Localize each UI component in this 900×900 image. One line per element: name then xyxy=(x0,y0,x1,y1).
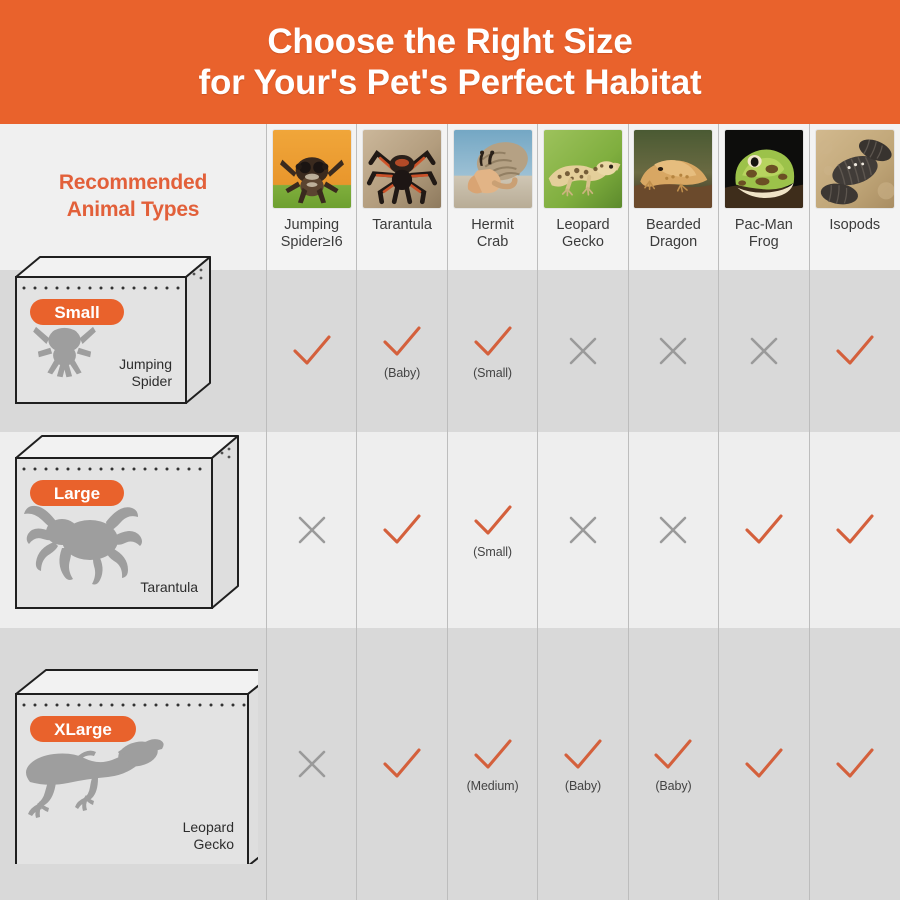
mark-wrapper xyxy=(538,511,627,549)
product-box-xlarge: XLarge Leopard Gecko xyxy=(0,628,266,900)
isopods-photo xyxy=(816,130,894,208)
cell-xlarge-hermit-crab: (Medium) xyxy=(448,628,538,900)
column-header-label-isopods: Isopods xyxy=(827,217,882,234)
check-icon xyxy=(379,510,425,550)
mark-wrapper xyxy=(719,744,808,784)
svg-text:Tarantula: Tarantula xyxy=(140,579,198,595)
mark-wrapper xyxy=(719,510,808,550)
column-header-pac-man-frog: Pac-ManFrog xyxy=(719,124,809,270)
column-label-line-1: Hermit xyxy=(471,217,514,233)
cell-note: (Baby) xyxy=(655,779,691,793)
jumping-spider-photo xyxy=(273,130,351,208)
corner-header-line-1: Recommended xyxy=(59,170,207,197)
mark-wrapper xyxy=(267,745,356,783)
product-box-small: Small Jumping Spider xyxy=(0,270,266,432)
corner-header-line-2: Animal Types xyxy=(67,197,200,224)
mark-wrapper: (Baby) xyxy=(357,322,446,380)
column-label-line-1: Isopods xyxy=(829,217,880,233)
hermit-crab-photo xyxy=(454,130,532,208)
column-label-line-1: Bearded xyxy=(646,217,701,233)
cell-small-hermit-crab: (Small) xyxy=(448,270,538,432)
title-banner: Choose the Right Size for Your's Pet's P… xyxy=(0,0,900,124)
cell-small-leopard-gecko xyxy=(538,270,628,432)
svg-text:Spider: Spider xyxy=(132,373,173,389)
column-header-label-jumping-spider: JumpingSpider≥I6 xyxy=(279,217,345,251)
svg-text:Gecko: Gecko xyxy=(194,836,235,852)
cell-xlarge-leopard-gecko: (Baby) xyxy=(538,628,628,900)
cell-large-hermit-crab: (Small) xyxy=(448,432,538,628)
column-header-jumping-spider: JumpingSpider≥I6 xyxy=(267,124,357,270)
size-box-cell-large: Large Tarantula xyxy=(0,432,267,628)
cell-xlarge-pac-man-frog xyxy=(719,628,809,900)
column-header-label-hermit-crab: HermitCrab xyxy=(469,217,516,251)
banner-title-line-2: for Your's Pet's Perfect Habitat xyxy=(199,63,702,102)
mark-wrapper: (Baby) xyxy=(538,735,627,793)
cell-small-bearded-dragon xyxy=(629,270,719,432)
mark-wrapper: (Baby) xyxy=(629,735,718,793)
cell-large-isopods xyxy=(810,432,900,628)
product-box-large: Large Tarantula xyxy=(0,432,266,628)
size-box-cell-small: Small Jumping Spider xyxy=(0,270,267,432)
mark-wrapper xyxy=(810,510,900,550)
column-header-label-pac-man-frog: Pac-ManFrog xyxy=(733,217,795,251)
cell-small-tarantula: (Baby) xyxy=(357,270,447,432)
check-icon xyxy=(470,735,516,775)
check-icon xyxy=(560,735,606,775)
column-header-leopard-gecko: LeopardGecko xyxy=(538,124,628,270)
mark-wrapper xyxy=(357,510,446,550)
column-label-line-1: Jumping xyxy=(284,217,339,233)
mark-wrapper: (Medium) xyxy=(448,735,537,793)
check-icon xyxy=(289,331,335,371)
check-icon xyxy=(832,510,878,550)
svg-text:XLarge: XLarge xyxy=(54,720,112,739)
column-header-tarantula: Tarantula xyxy=(357,124,447,270)
column-label-line-1: Pac-Man xyxy=(735,217,793,233)
mark-wrapper xyxy=(810,744,900,784)
column-label-line-2: Frog xyxy=(749,234,779,250)
column-label-line-2: Spider≥I6 xyxy=(281,234,343,250)
banner-title-line-1: Choose the Right Size xyxy=(267,22,632,61)
mark-wrapper: (Small) xyxy=(448,501,537,559)
check-icon xyxy=(379,322,425,362)
cell-note: (Small) xyxy=(473,366,512,380)
cell-note: (Baby) xyxy=(384,366,420,380)
column-header-hermit-crab: HermitCrab xyxy=(448,124,538,270)
mark-wrapper xyxy=(538,332,627,370)
cell-note: (Small) xyxy=(473,545,512,559)
column-header-bearded-dragon: BeardedDragon xyxy=(629,124,719,270)
cell-note: (Medium) xyxy=(467,779,519,793)
leopard-gecko-photo xyxy=(544,130,622,208)
svg-text:Jumping: Jumping xyxy=(119,356,172,372)
column-label-line-2: Crab xyxy=(477,234,508,250)
cross-icon xyxy=(654,332,692,370)
mark-wrapper xyxy=(810,331,900,371)
pac-man-frog-photo xyxy=(725,130,803,208)
svg-text:Small: Small xyxy=(54,303,99,322)
cross-icon xyxy=(293,745,331,783)
cross-icon xyxy=(745,332,783,370)
cell-xlarge-bearded-dragon: (Baby) xyxy=(629,628,719,900)
cell-large-bearded-dragon xyxy=(629,432,719,628)
check-icon xyxy=(741,744,787,784)
mark-wrapper xyxy=(629,511,718,549)
column-header-label-bearded-dragon: BeardedDragon xyxy=(644,217,703,251)
mark-wrapper xyxy=(357,744,446,784)
svg-text:Large: Large xyxy=(54,484,100,503)
cell-small-jumping-spider xyxy=(267,270,357,432)
cell-note: (Baby) xyxy=(565,779,601,793)
check-icon xyxy=(832,331,878,371)
cell-large-tarantula xyxy=(357,432,447,628)
mark-wrapper xyxy=(629,332,718,370)
check-icon xyxy=(832,744,878,784)
check-icon xyxy=(470,501,516,541)
cross-icon xyxy=(654,511,692,549)
size-box-cell-xlarge: XLarge Leopard Gecko xyxy=(0,628,267,900)
corner-header-cell: Recommended Animal Types xyxy=(0,124,267,270)
mark-wrapper xyxy=(267,511,356,549)
size-comparison-table: Recommended Animal Types xyxy=(0,124,900,900)
cell-large-leopard-gecko xyxy=(538,432,628,628)
cell-small-pac-man-frog xyxy=(719,270,809,432)
mark-wrapper: (Small) xyxy=(448,322,537,380)
column-label-line-2: Gecko xyxy=(562,234,604,250)
column-label-line-2: Dragon xyxy=(650,234,698,250)
cell-xlarge-tarantula xyxy=(357,628,447,900)
check-icon xyxy=(650,735,696,775)
check-icon xyxy=(379,744,425,784)
check-icon xyxy=(470,322,516,362)
check-icon xyxy=(741,510,787,550)
cell-large-jumping-spider xyxy=(267,432,357,628)
cross-icon xyxy=(564,332,602,370)
cell-large-pac-man-frog xyxy=(719,432,809,628)
tarantula-photo xyxy=(363,130,441,208)
column-header-isopods: Isopods xyxy=(810,124,900,270)
column-label-line-1: Leopard xyxy=(556,217,609,233)
comparison-chart-page: Choose the Right Size for Your's Pet's P… xyxy=(0,0,900,900)
bearded-dragon-photo xyxy=(634,130,712,208)
column-header-label-tarantula: Tarantula xyxy=(370,217,434,234)
cell-xlarge-jumping-spider xyxy=(267,628,357,900)
cell-xlarge-isopods xyxy=(810,628,900,900)
cross-icon xyxy=(293,511,331,549)
cross-icon xyxy=(564,511,602,549)
column-label-line-1: Tarantula xyxy=(372,217,432,233)
column-header-label-leopard-gecko: LeopardGecko xyxy=(554,217,611,251)
cell-small-isopods xyxy=(810,270,900,432)
svg-text:Leopard: Leopard xyxy=(183,819,234,835)
mark-wrapper xyxy=(267,331,356,371)
mark-wrapper xyxy=(719,332,808,370)
